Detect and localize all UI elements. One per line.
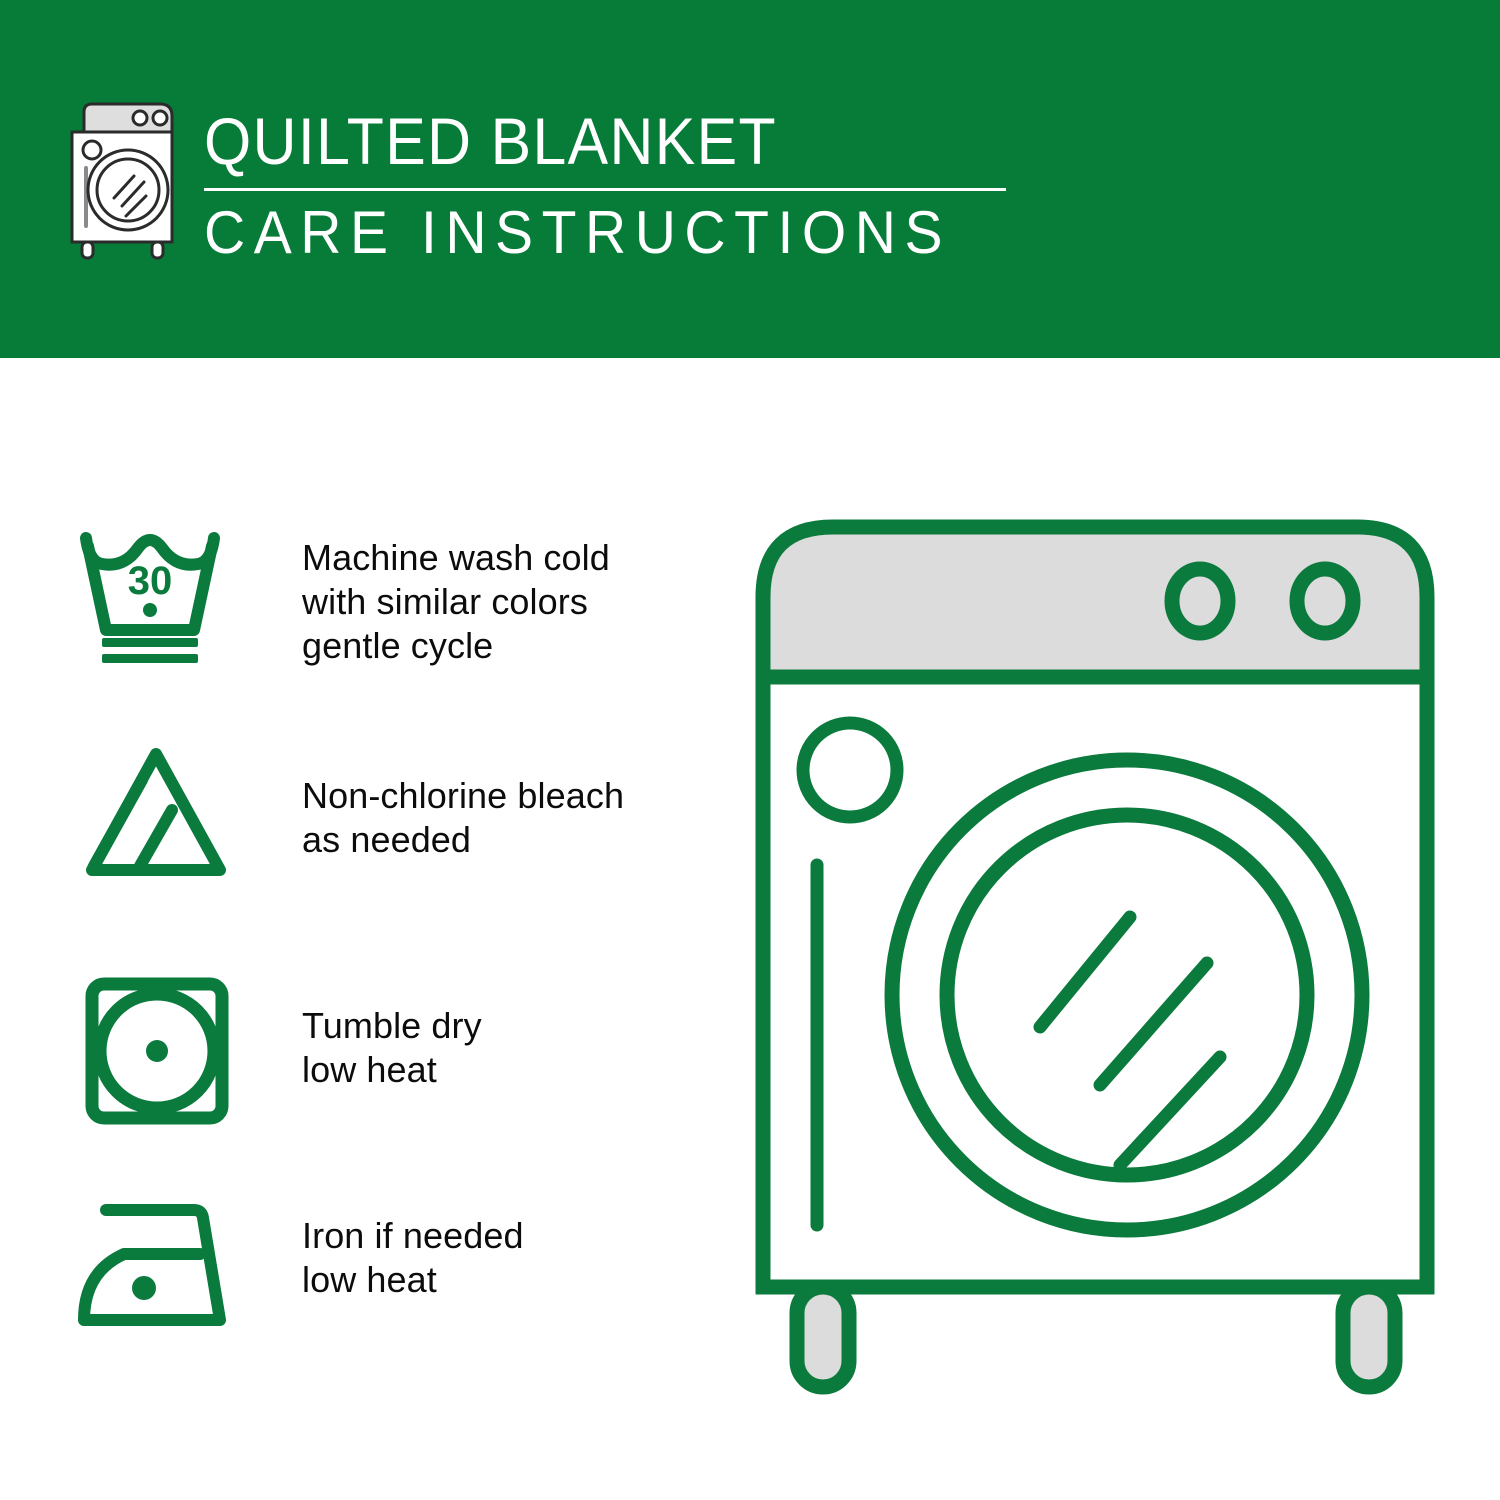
care-row: Non-chlorine bleach as needed: [72, 736, 624, 886]
care-row: Iron if needed low heat: [72, 1192, 524, 1342]
bleach-triangle-non-chlorine-icon: [72, 736, 242, 886]
header-titles: QUILTED BLANKET CARE INSTRUCTIONS: [204, 98, 1006, 267]
care-row: Tumble dry low heat: [72, 976, 482, 1126]
wash-temperature-label: 30: [128, 559, 173, 603]
care-row-label: Tumble dry low heat: [302, 976, 482, 1092]
tumble-dry-low-heat-icon: [72, 976, 242, 1126]
care-row-label: Iron if needed low heat: [302, 1192, 524, 1302]
knob-left: [1172, 569, 1228, 633]
wash-basin-30-gentle-icon: 30: [72, 518, 242, 668]
knob-right: [1297, 569, 1353, 633]
header-content: QUILTED BLANKET CARE INSTRUCTIONS: [62, 98, 1006, 267]
iron-low-heat-icon: [72, 1192, 242, 1342]
washing-machine-icon: [62, 98, 188, 264]
door-inner-ring: [947, 815, 1307, 1175]
front-load-washing-machine-illustration: [745, 505, 1445, 1405]
page-title: QUILTED BLANKET: [204, 104, 942, 178]
leg-left: [797, 1287, 849, 1387]
header-banner: QUILTED BLANKET CARE INSTRUCTIONS: [0, 0, 1500, 358]
page-subtitle: CARE INSTRUCTIONS: [204, 199, 966, 267]
care-row-label: Non-chlorine bleach as needed: [302, 736, 624, 862]
care-row: 30 Machine wash cold with similar colors…: [72, 518, 610, 668]
leg-right: [1343, 1287, 1395, 1387]
power-button: [803, 723, 897, 817]
care-row-label: Machine wash cold with similar colors ge…: [302, 518, 610, 668]
title-divider: [204, 188, 1006, 191]
